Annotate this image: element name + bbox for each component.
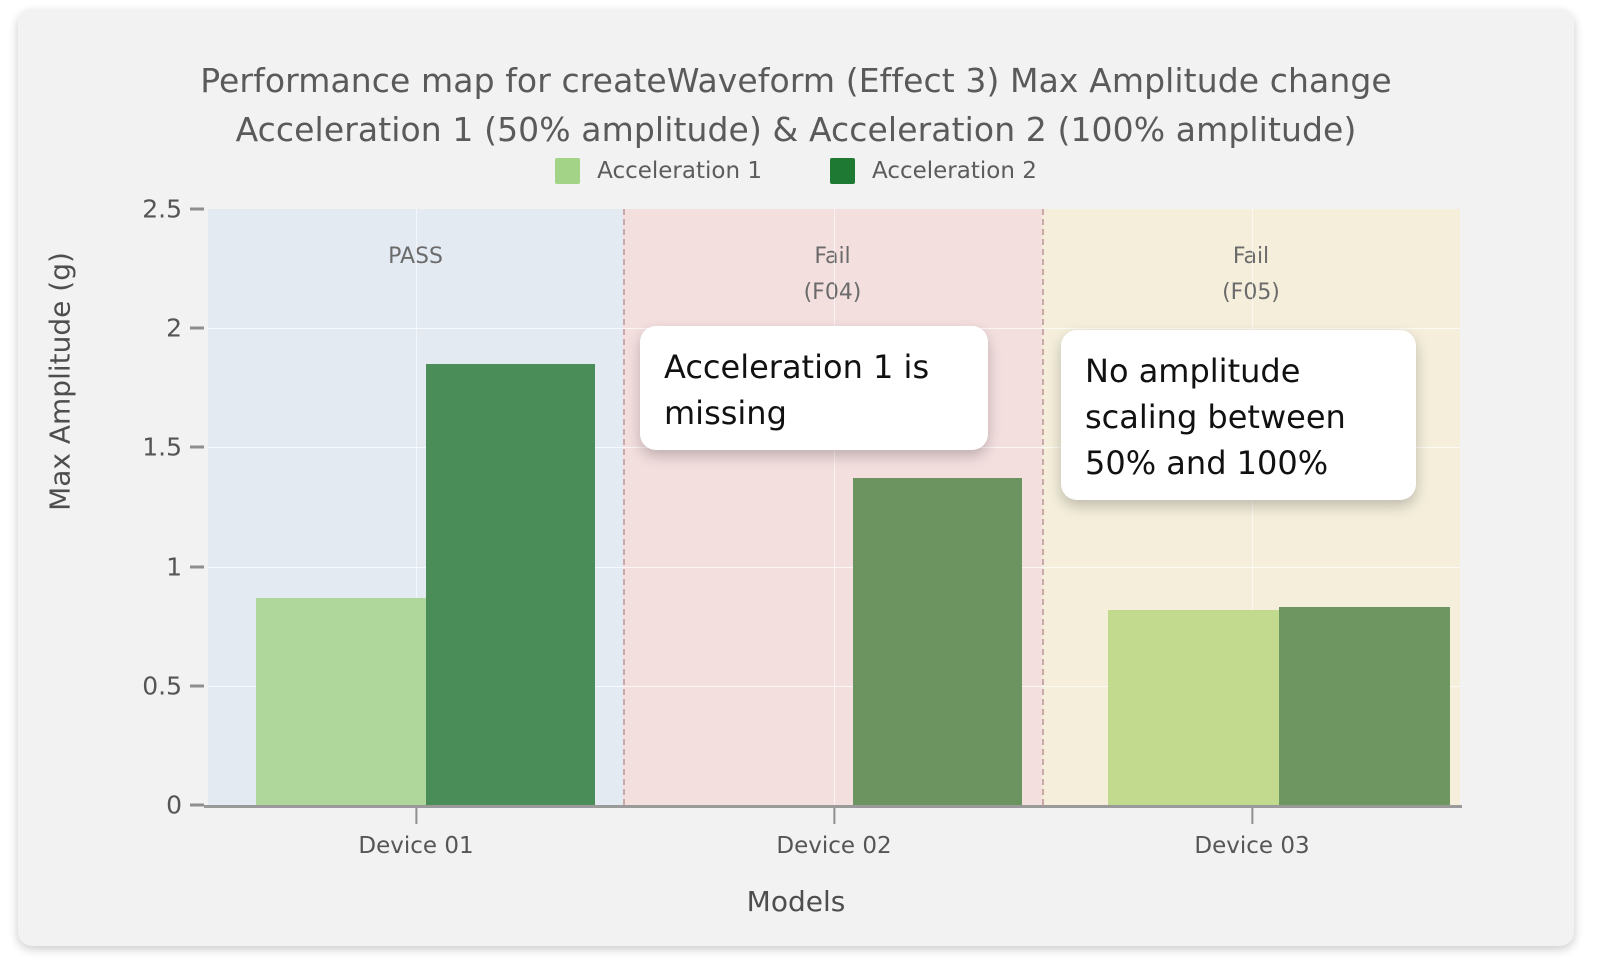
gridline-vertical-device-02 (834, 209, 835, 805)
plot-area: PASS Fail (F04) Fail (F05) (208, 209, 1460, 805)
x-tick-device-02: Device 02 (776, 805, 891, 859)
chart-screenshot: Performance map for createWaveform (Effe… (0, 0, 1600, 973)
y-tick-label: 2.5 (142, 195, 182, 224)
y-tick-1: 1 (166, 552, 204, 581)
bar-device-02-acceleration-2[interactable] (853, 478, 1022, 805)
band-label-fail-f04: Fail (F04) (623, 239, 1042, 311)
y-tick-0: 0 (166, 791, 204, 820)
x-tick-device-03: Device 03 (1194, 805, 1309, 859)
annotation-line-3: 50% and 100% (1085, 440, 1392, 486)
x-tick-device-01: Device 01 (358, 805, 473, 859)
y-tick-mark-icon (190, 565, 204, 568)
y-tick-0_5: 0.5 (142, 671, 204, 700)
x-tick-mark-icon (415, 808, 417, 824)
band-label-line-1: Fail (814, 244, 850, 269)
bar-device-01-acceleration-2[interactable] (426, 364, 595, 805)
legend-swatch-icon (830, 158, 855, 184)
chart-title-line-2: Acceleration 1 (50% amplitude) & Acceler… (18, 105, 1574, 154)
legend-item-acceleration-1[interactable]: Acceleration 1 (555, 158, 762, 184)
annotation-line-2: missing (664, 390, 964, 436)
annotation-no-amplitude-scaling: No amplitude scaling between 50% and 100… (1061, 330, 1416, 500)
y-tick-mark-icon (190, 208, 204, 211)
y-axis-ticks: 2.5 2 1.5 1 0.5 0 (78, 10, 204, 946)
annotation-line-1: Acceleration 1 is (664, 344, 964, 390)
y-tick-2_5: 2.5 (142, 195, 204, 224)
legend-label: Acceleration 2 (872, 158, 1037, 184)
band-divider-2 (1042, 209, 1044, 805)
bar-device-01-acceleration-1[interactable] (256, 598, 426, 805)
annotation-line-1: No amplitude (1085, 348, 1392, 394)
y-tick-1_5: 1.5 (142, 433, 204, 462)
annotation-acceleration-1-missing: Acceleration 1 is missing (640, 326, 988, 450)
band-divider-1 (623, 209, 625, 805)
chart-card: Performance map for createWaveform (Effe… (18, 10, 1574, 946)
y-tick-label: 2 (166, 314, 182, 343)
annotation-line-2: scaling between (1085, 394, 1392, 440)
bar-device-03-acceleration-2[interactable] (1279, 607, 1450, 805)
x-tick-mark-icon (1251, 808, 1253, 824)
y-tick-mark-icon (190, 804, 204, 807)
chart-title-line-1: Performance map for createWaveform (Effe… (18, 56, 1574, 105)
band-label-line-1: Fail (1233, 244, 1269, 269)
y-tick-label: 0 (166, 791, 182, 820)
legend-label: Acceleration 1 (597, 158, 762, 184)
legend-swatch-icon (555, 158, 580, 184)
chart-legend: Acceleration 1 Acceleration 2 (18, 158, 1574, 184)
y-tick-2: 2 (166, 314, 204, 343)
x-tick-label: Device 02 (776, 833, 891, 859)
y-tick-mark-icon (190, 684, 204, 687)
x-tick-label: Device 01 (358, 833, 473, 859)
x-axis-title: Models (18, 885, 1574, 918)
y-tick-mark-icon (190, 327, 204, 330)
y-tick-label: 1 (166, 552, 182, 581)
y-tick-label: 0.5 (142, 671, 182, 700)
band-label-line-2: (F04) (804, 280, 862, 305)
chart-title: Performance map for createWaveform (Effe… (18, 56, 1574, 154)
y-tick-label: 1.5 (142, 433, 182, 462)
x-tick-label: Device 03 (1194, 833, 1309, 859)
legend-item-acceleration-2[interactable]: Acceleration 2 (830, 158, 1037, 184)
y-tick-mark-icon (190, 446, 204, 449)
band-label-fail-f05: Fail (F05) (1042, 239, 1460, 311)
band-label-line-2: (F05) (1222, 280, 1280, 305)
x-tick-mark-icon (833, 808, 835, 824)
bar-device-03-acceleration-1[interactable] (1108, 610, 1279, 806)
y-axis-title: Max Amplitude (g) (44, 132, 77, 632)
